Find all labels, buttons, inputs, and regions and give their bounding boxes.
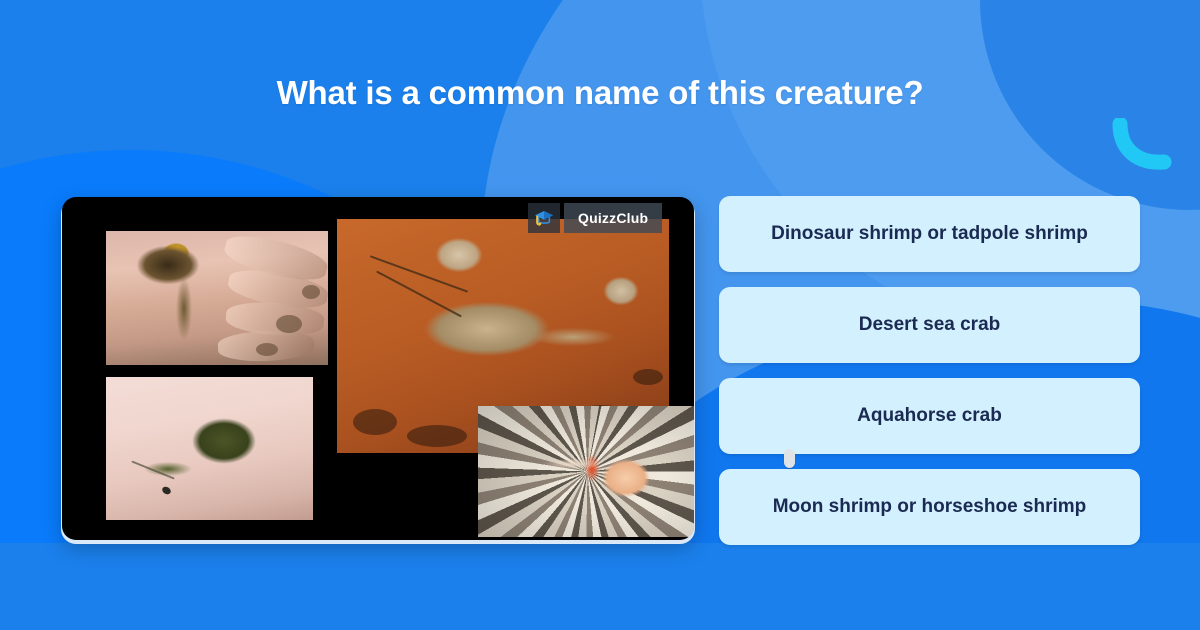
answer-option-1[interactable]: Dinosaur shrimp or tadpole shrimp xyxy=(719,196,1140,272)
quiz-card: What is a common name of this creature? xyxy=(0,0,1200,630)
answer-option-label: Aquahorse crab xyxy=(857,405,1002,427)
creature-photo-collage: QuizzClub xyxy=(62,197,694,540)
answer-option-2[interactable]: Desert sea crab xyxy=(719,287,1140,363)
photo-hand-holding-shrimp xyxy=(106,231,328,365)
answer-option-4[interactable]: Moon shrimp or horseshoe shrimp xyxy=(719,469,1140,545)
photo-detail xyxy=(407,425,467,447)
page-title: What is a common name of this creature? xyxy=(0,74,1200,112)
photo-detail xyxy=(161,485,172,496)
photo-detail xyxy=(276,315,302,333)
photo-detail xyxy=(256,343,278,356)
answer-option-label: Desert sea crab xyxy=(859,314,1001,336)
answer-option-3[interactable]: Aquahorse crab xyxy=(719,378,1140,454)
watermark-label-bar: QuizzClub xyxy=(564,203,662,233)
cyan-swoosh-icon xyxy=(1112,118,1174,172)
answer-options-list: Dinosaur shrimp or tadpole shrimp Desert… xyxy=(719,196,1140,560)
photo-detail xyxy=(478,406,694,537)
cursor-indicator xyxy=(784,449,795,468)
photo-detail xyxy=(131,460,174,479)
quizzclub-watermark: QuizzClub xyxy=(528,203,662,233)
photo-detail xyxy=(302,285,320,299)
watermark-brand-label: QuizzClub xyxy=(578,210,648,226)
answer-option-label: Moon shrimp or horseshoe shrimp xyxy=(773,496,1087,518)
photo-shrimp-on-palm xyxy=(106,377,313,520)
photo-shrimp-on-gravel xyxy=(478,406,694,537)
photo-detail xyxy=(376,271,462,318)
photo-detail xyxy=(633,369,663,385)
answer-option-label: Dinosaur shrimp or tadpole shrimp xyxy=(771,223,1088,245)
photo-detail xyxy=(353,409,397,435)
graduation-cap-icon xyxy=(528,203,560,233)
